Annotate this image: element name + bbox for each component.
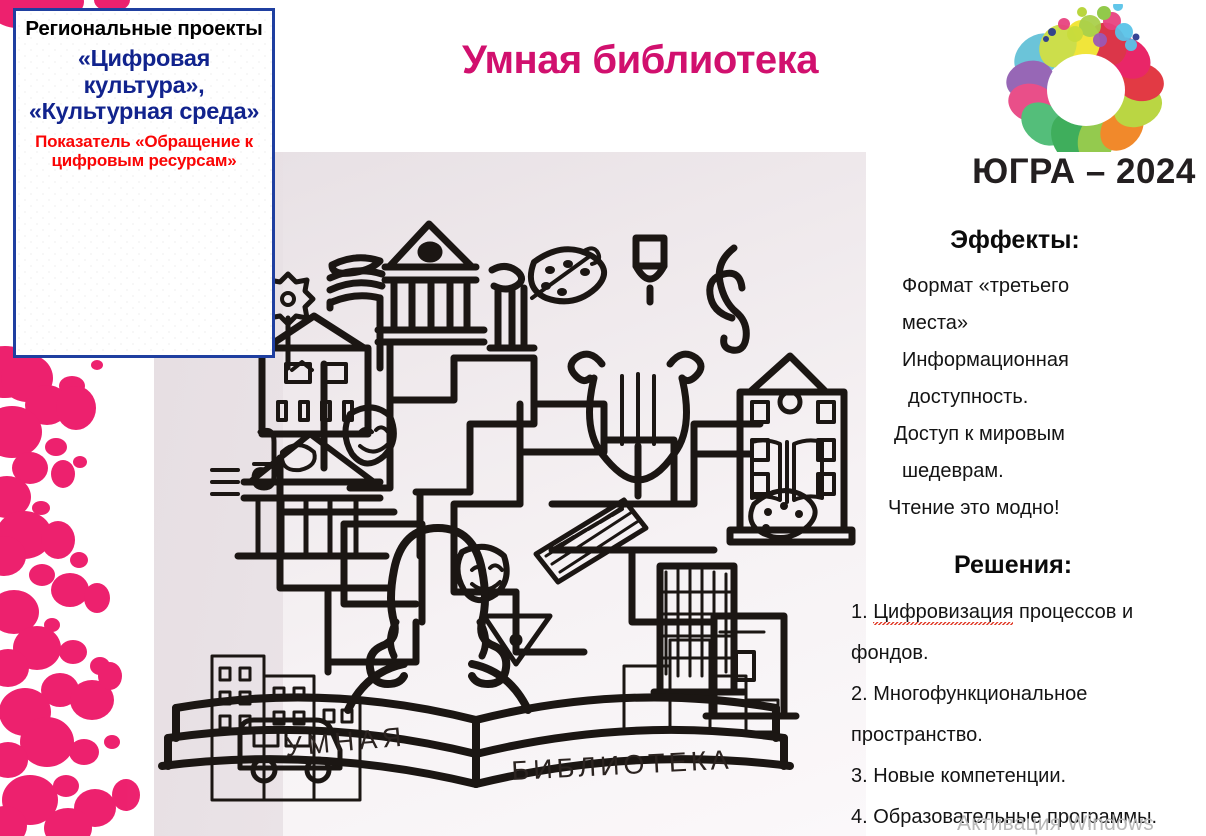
solutions-list: 1. Цифровизация процессов и фондов. 2. М… [851,592,1203,836]
yugra-ring-icon [986,4,1186,152]
info-box-heading: Региональные проекты [24,17,264,41]
solution-number: 1. [851,601,868,623]
yugra-logo: ЮГРА – 2024 [964,2,1204,217]
effect-item: Доступ к мировым [866,416,1196,453]
solution-text: пространство. [851,724,983,746]
page-title: Умная библиотека [330,38,950,83]
windows-activation-watermark: Активация Windows [957,812,1154,836]
effect-item: Формат «третьего [866,268,1196,305]
solution-text: Многофункциональное [868,683,1088,705]
effects-heading: Эффекты: [860,226,1170,255]
solution-item: пространство. [851,715,1203,756]
info-box-projects: «Цифровая культура», «Культурная среда» [24,45,264,125]
solution-item: 3. Новые компетенции. [851,756,1203,797]
solution-number: 2. [851,683,868,705]
solution-number: 3. [851,765,868,787]
effect-item: шедеврам. [866,453,1196,490]
effect-item: места» [866,305,1196,342]
solution-number: 4. [851,806,868,828]
solution-text: Новые компетенции. [868,765,1066,787]
effect-item: доступность. [866,379,1196,416]
solution-misspelled-word: Цифровизация [873,601,1013,625]
logo-wordmark: ЮГРА – 2024 [964,152,1204,192]
slide-canvas: Региональные проекты «Цифровая культура»… [0,0,1206,836]
effects-list: Формат «третьего места» Информационная д… [866,268,1196,527]
solution-item: фондов. [851,633,1203,674]
solution-text: процессов и [1013,601,1133,623]
info-box-indicator: Показатель «Обращение к цифровым ресурса… [24,132,264,170]
regional-projects-box: Региональные проекты «Цифровая культура»… [13,8,275,358]
solution-text: фондов. [851,642,929,664]
solutions-heading: Решения: [858,551,1168,580]
banner-right-text: БИБЛИОТЕКА [511,744,733,786]
effect-item: Информационная [866,342,1196,379]
effect-item: Чтение это модно! [866,490,1196,527]
solution-item: 2. Многофункциональное [851,674,1203,715]
solution-item: 1. Цифровизация процессов и [851,592,1203,633]
